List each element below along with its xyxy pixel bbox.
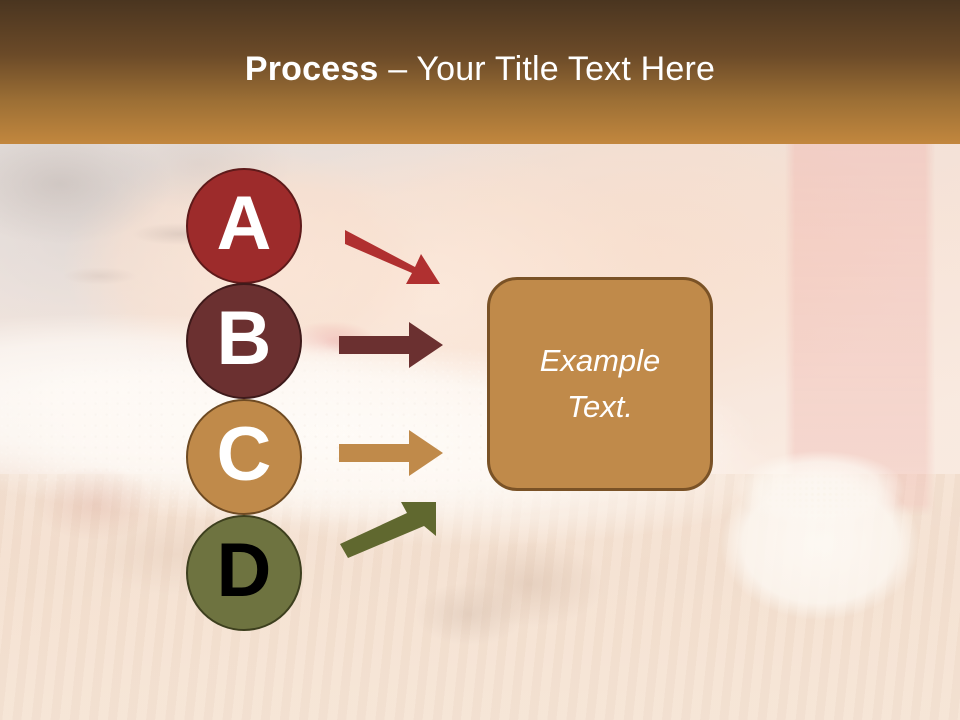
- page-title: Process – Your Title Text Here: [0, 49, 960, 89]
- step-letter-d: D: [217, 533, 272, 609]
- arrow-c-icon: [339, 428, 445, 478]
- step-circle-b[interactable]: B: [186, 283, 302, 399]
- step-letter-b: B: [217, 301, 272, 377]
- step-letter-c: C: [217, 417, 272, 493]
- page-title-bold: Process: [245, 50, 379, 88]
- arrow-d-icon: [340, 496, 450, 566]
- slide-canvas: Process – Your Title Text Here A B C D E…: [0, 0, 960, 720]
- example-text-line1: Example: [540, 343, 661, 378]
- arrow-a-icon: [345, 222, 455, 292]
- title-banner: Process – Your Title Text Here: [0, 0, 960, 144]
- page-title-rest: – Your Title Text Here: [379, 50, 716, 88]
- example-text-line2: Text.: [567, 389, 633, 424]
- step-circle-a[interactable]: A: [186, 168, 302, 284]
- arrow-b-icon: [339, 320, 445, 370]
- step-letter-a: A: [217, 186, 272, 262]
- background-wash-overlay: [0, 144, 960, 720]
- step-circle-c[interactable]: C: [186, 399, 302, 515]
- example-text-box-label: Example Text.: [510, 338, 690, 430]
- step-circle-d[interactable]: D: [186, 515, 302, 631]
- example-text-box[interactable]: Example Text.: [487, 277, 713, 491]
- background-photo: [0, 144, 960, 720]
